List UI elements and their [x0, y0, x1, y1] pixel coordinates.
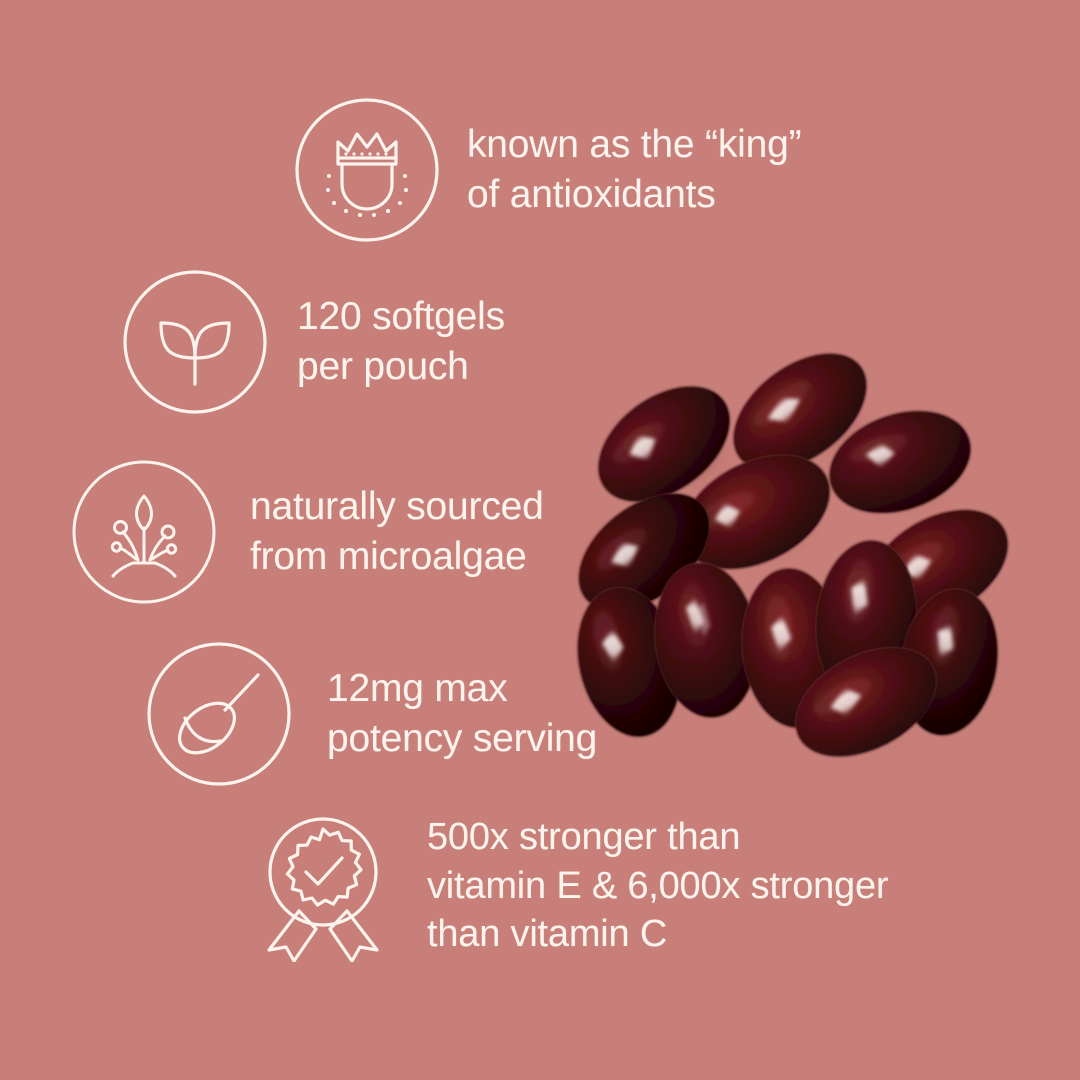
softgel-capsule	[848, 486, 1028, 645]
softgel-capsule	[735, 564, 851, 732]
sprout-leaf-icon	[121, 268, 269, 416]
softgel-capsule	[646, 556, 766, 723]
product-feature-graphic: known as the “king” of antioxidants 120 …	[0, 0, 1080, 1080]
feature-label: known as the “king” of antioxidants	[467, 120, 801, 220]
softgel-capsule	[815, 393, 984, 531]
feature-label: 120 softgels per pouch	[297, 292, 505, 392]
softgel-capsule	[577, 362, 752, 525]
crown-icon	[293, 96, 441, 244]
softgel-capsule	[712, 330, 889, 495]
softgel-capsule	[557, 470, 732, 635]
softgel-capsule	[890, 581, 1008, 742]
feature-row-softgel-count: 120 softgels per pouch	[121, 268, 505, 416]
award-ribbon-icon	[253, 810, 393, 962]
feature-row-potency-comparison: 500x stronger than vitamin E & 6,000x st…	[253, 810, 888, 962]
feature-row-microalgae: naturally sourced from microalgae	[70, 458, 544, 606]
feature-row-potency: 12mg max potency serving	[145, 640, 597, 788]
microalgae-icon	[70, 458, 218, 606]
feature-label: 12mg max potency serving	[327, 664, 597, 764]
feature-label: naturally sourced from microalgae	[250, 482, 544, 582]
feature-row-crown: known as the “king” of antioxidants	[293, 96, 801, 244]
softgel-capsule	[663, 432, 849, 593]
softgel-capsule	[808, 535, 924, 705]
softgel-capsule	[777, 625, 955, 779]
feature-label: 500x stronger than vitamin E & 6,000x st…	[427, 813, 888, 959]
spoon-icon	[145, 640, 293, 788]
